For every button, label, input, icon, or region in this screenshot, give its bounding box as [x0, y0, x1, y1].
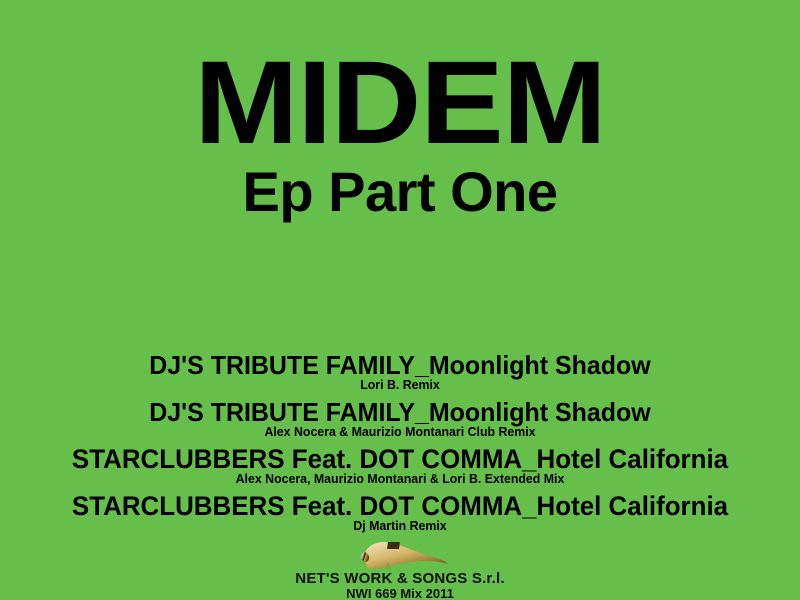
track-title: DJ'S TRIBUTE FAMILY_Moonlight Shadow: [16, 352, 784, 378]
track-remix-credit: Alex Nocera, Maurizio Montanari & Lori B…: [20, 472, 780, 486]
track-title: DJ'S TRIBUTE FAMILY_Moonlight Shadow: [16, 399, 784, 425]
catalog-number: NWI 669 Mix 2011: [0, 587, 800, 600]
label-footer: NET'S WORK & SONGS S.r.l. NWI 669 Mix 20…: [0, 540, 800, 600]
list-item: DJ'S TRIBUTE FAMILY_Moonlight Shadow Ale…: [0, 399, 800, 439]
list-item: STARCLUBBERS Feat. DOT COMMA_Hotel Calif…: [0, 493, 800, 533]
track-title: STARCLUBBERS Feat. DOT COMMA_Hotel Calif…: [16, 493, 784, 519]
track-title: STARCLUBBERS Feat. DOT COMMA_Hotel Calif…: [16, 446, 784, 472]
page-subtitle: Ep Part One: [0, 164, 800, 220]
track-remix-credit: Lori B. Remix: [20, 378, 780, 392]
album-cover-artwork: MIDEM Ep Part One DJ'S TRIBUTE FAMILY_Mo…: [0, 0, 800, 600]
tracklist: DJ'S TRIBUTE FAMILY_Moonlight Shadow Lor…: [0, 352, 800, 540]
title-block: MIDEM Ep Part One: [0, 44, 800, 220]
horse-swoosh-logo-icon: [344, 540, 456, 570]
record-label-name: NET'S WORK & SONGS S.r.l.: [0, 571, 800, 587]
list-item: DJ'S TRIBUTE FAMILY_Moonlight Shadow Lor…: [0, 352, 800, 392]
track-remix-credit: Alex Nocera & Maurizio Montanari Club Re…: [20, 425, 780, 439]
page-title: MIDEM: [0, 44, 800, 162]
list-item: STARCLUBBERS Feat. DOT COMMA_Hotel Calif…: [0, 446, 800, 486]
track-remix-credit: Dj Martin Remix: [20, 519, 780, 533]
